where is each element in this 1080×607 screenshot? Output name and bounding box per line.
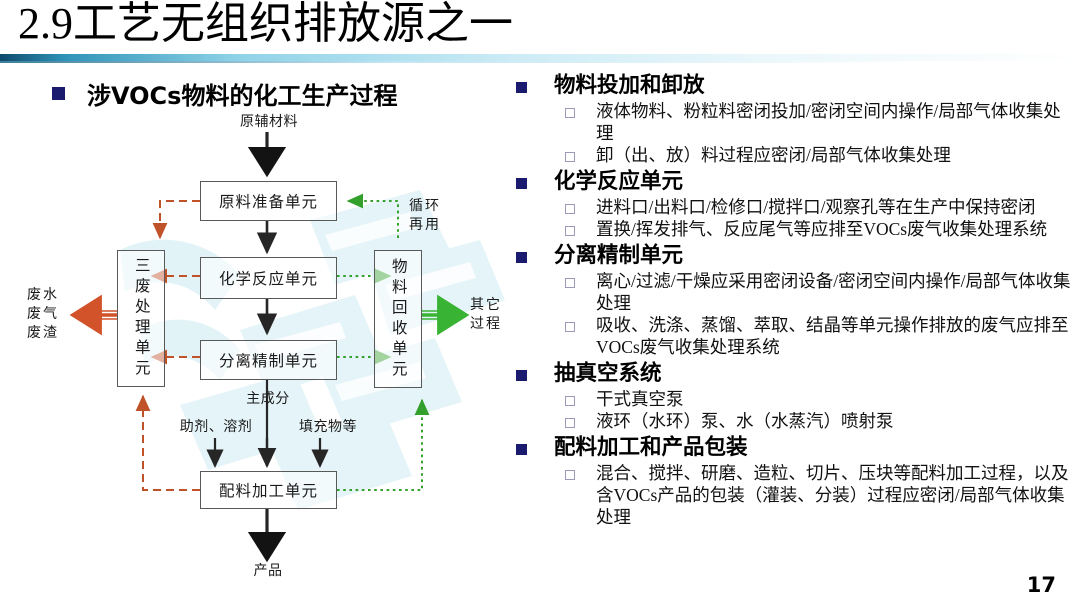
diagram-label-input-raw-materials: 原辅材料 xyxy=(225,113,313,132)
diagram-box-material-recovery: 物料回收单元 xyxy=(374,250,422,388)
bullet-hollow-square-icon xyxy=(565,470,575,480)
bullet-hollow-square-icon xyxy=(565,204,575,214)
diagram-label-main-component: 主成分 xyxy=(233,390,303,409)
bullet-section-title: 化学反应单元 xyxy=(554,167,683,196)
diagram-box-three-waste-treatment: 三废处理单元 xyxy=(117,250,165,387)
bullet-square-icon xyxy=(516,82,527,93)
diagram-label-product: 产品 xyxy=(238,562,298,581)
bullet-section-3: 抽真空系统 xyxy=(516,359,1076,388)
title-underline xyxy=(0,54,1080,61)
sub-bullet-0-1: 卸（出、放）料过程应密闭/局部气体收集处理 xyxy=(565,144,1076,166)
diagram-label-additives-solvents: 助剂、溶剂 xyxy=(166,418,266,437)
bullet-section-1: 化学反应单元 xyxy=(516,167,1076,196)
diagram-label-other-process: 其它 过程 xyxy=(464,296,508,334)
bullet-square-icon xyxy=(516,178,527,189)
process-flow-diagram: 原料准备单元 化学反应单元 分离精制单元 配料加工单元 三废处理单元 物料回收单… xyxy=(0,100,510,570)
waste-line2: 废气 xyxy=(14,305,72,324)
bullet-section-4: 配料加工和产品包装 xyxy=(516,433,1076,462)
bullet-section-title: 抽真空系统 xyxy=(554,359,662,388)
bullet-square-icon xyxy=(516,370,527,381)
recycle-reuse-line2: 再用 xyxy=(403,216,447,235)
diagram-box-chemical-reaction: 化学反应单元 xyxy=(200,257,337,299)
waste-line3: 废渣 xyxy=(14,324,72,343)
bullet-hollow-square-icon xyxy=(565,322,575,332)
bullet-section-title: 分离精制单元 xyxy=(554,241,683,270)
slide: 2.9工艺无组织排放源之一 涉VOCs物料的化工生产过程 xyxy=(0,0,1080,607)
diagram-label-recycle-reuse: 循环 再用 xyxy=(403,197,447,235)
diagram-label-fillers: 填充物等 xyxy=(282,418,374,437)
bullet-hollow-square-icon xyxy=(565,108,575,118)
diagram-box-label: 化学反应单元 xyxy=(219,267,318,289)
bullet-hollow-square-icon xyxy=(565,152,575,162)
bullet-hollow-square-icon xyxy=(565,418,575,428)
sub-bullet-text: 卸（出、放）料过程应密闭/局部气体收集处理 xyxy=(596,144,951,166)
sub-bullet-text: 液环（水环）泵、水（水蒸汽）喷射泵 xyxy=(596,410,894,432)
sub-bullet-text: 进料口/出料口/检修口/搅拌口/观察孔等在生产中保持密闭 xyxy=(596,196,1035,218)
page-title: 2.9工艺无组织排放源之一 xyxy=(18,0,513,50)
bullet-section-2: 分离精制单元 xyxy=(516,241,1076,270)
recycle-reuse-line1: 循环 xyxy=(403,197,447,216)
sub-bullet-1-1: 置换/挥发排气、反应尾气等应排至VOCs废气收集处理系统 xyxy=(565,218,1076,240)
sub-bullet-0-0: 液体物料、粉粒料密闭投加/密闭空间内操作/局部气体收集处理 xyxy=(565,100,1076,144)
sub-bullet-text: 混合、搅拌、研磨、造粒、切片、压块等配料加工过程，以及含VOCs产品的包装（灌装… xyxy=(596,462,1076,528)
diagram-box-raw-material-prep: 原料准备单元 xyxy=(200,181,337,221)
bullet-section-title: 物料投加和卸放 xyxy=(554,71,705,100)
page-number: 17 xyxy=(1027,573,1056,597)
bullet-hollow-square-icon xyxy=(565,278,575,288)
sub-bullet-2-0: 离心/过滤/干燥应采用密闭设备/密闭空间内操作/局部气体收集处理 xyxy=(565,270,1076,314)
bullet-section-title: 配料加工和产品包装 xyxy=(554,433,748,462)
sub-bullet-text: 置换/挥发排气、反应尾气等应排至VOCs废气收集处理系统 xyxy=(596,218,1047,240)
bullet-section-0: 物料投加和卸放 xyxy=(516,71,1076,100)
bullet-hollow-square-icon xyxy=(565,396,575,406)
bullet-hollow-square-icon xyxy=(565,226,575,236)
sub-bullet-2-1: 吸收、洗涤、蒸馏、萃取、结晶等单元操作排放的废气应排至VOCs废气收集处理系统 xyxy=(565,314,1076,358)
diagram-box-compounding-processing: 配料加工单元 xyxy=(200,471,337,509)
sub-bullet-text: 吸收、洗涤、蒸馏、萃取、结晶等单元操作排放的废气应排至VOCs废气收集处理系统 xyxy=(596,314,1076,358)
bullet-square-icon xyxy=(516,444,527,455)
bullet-square-icon xyxy=(52,87,65,100)
right-bullet-list: 物料投加和卸放 液体物料、粉粒料密闭投加/密闭空间内操作/局部气体收集处理 卸（… xyxy=(516,70,1076,528)
diagram-box-label: 物料回收单元 xyxy=(390,258,406,381)
diagram-box-label: 原料准备单元 xyxy=(219,190,318,212)
title-underline-thin xyxy=(0,61,1080,63)
bullet-square-icon xyxy=(516,252,527,263)
diagram-label-waste-outputs: 废水 废气 废渣 xyxy=(14,286,72,343)
diagram-box-label: 分离精制单元 xyxy=(219,349,318,371)
sub-bullet-1-0: 进料口/出料口/检修口/搅拌口/观察孔等在生产中保持密闭 xyxy=(565,196,1076,218)
diagram-box-label: 配料加工单元 xyxy=(219,479,318,501)
sub-bullet-3-0: 干式真空泵 xyxy=(565,388,1076,410)
other-process-line1: 其它 xyxy=(464,296,508,315)
sub-bullet-3-1: 液环（水环）泵、水（水蒸汽）喷射泵 xyxy=(565,410,1076,432)
other-process-line2: 过程 xyxy=(464,315,508,334)
diagram-box-label: 三废处理单元 xyxy=(133,257,149,380)
sub-bullet-4-0: 混合、搅拌、研磨、造粒、切片、压块等配料加工过程，以及含VOCs产品的包装（灌装… xyxy=(565,462,1076,528)
sub-bullet-text: 干式真空泵 xyxy=(596,388,684,410)
diagram-box-separation-refining: 分离精制单元 xyxy=(200,340,337,380)
sub-bullet-text: 离心/过滤/干燥应采用密闭设备/密闭空间内操作/局部气体收集处理 xyxy=(596,270,1076,314)
sub-bullet-text: 液体物料、粉粒料密闭投加/密闭空间内操作/局部气体收集处理 xyxy=(596,100,1076,144)
waste-line1: 废水 xyxy=(14,286,72,305)
